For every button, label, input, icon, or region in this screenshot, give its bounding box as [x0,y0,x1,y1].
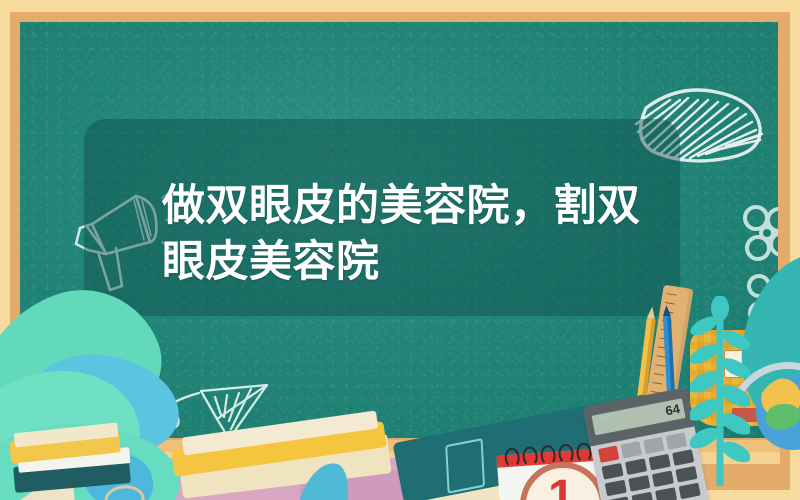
calculator-key [601,463,623,480]
calculator-key [632,492,654,500]
blue-pen-tip [662,305,671,316]
calculator-display-value: 64 [664,401,681,419]
calculator-key [666,432,687,449]
fern-plant [690,296,750,486]
calculator-brand: CALC [598,414,612,422]
poster-stage: 做双眼皮的美容院，割双眼皮美容院 ILove School [0,0,800,500]
calculator-key [655,487,677,500]
magnified-number: 1 [548,472,575,500]
calculator-key [625,458,647,475]
globe-landmass [766,404,800,430]
calculator-key [621,441,642,458]
pencil-tip [647,306,656,319]
calculator-key [605,480,627,497]
calculator-key [628,475,650,492]
book-cover-mark [445,438,485,494]
calculator-key [643,437,664,454]
page-title: 做双眼皮的美容院，割双眼皮美容院 [162,178,662,290]
calculator-key [649,454,671,471]
calculator-key [652,471,674,488]
calculator-key [608,496,630,500]
calculator-key [598,446,619,463]
